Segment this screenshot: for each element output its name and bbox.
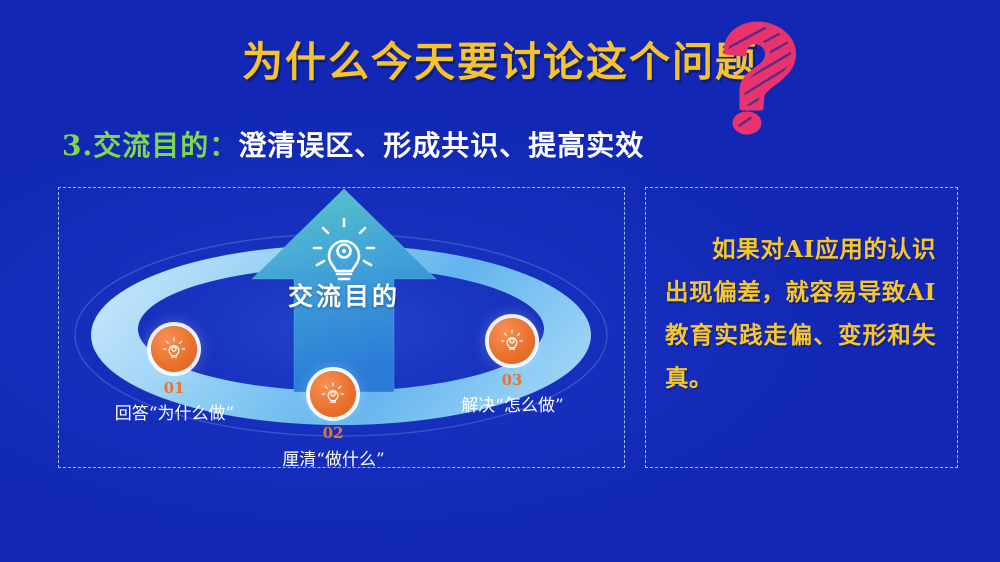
lightbulb-idea-icon <box>499 328 525 354</box>
question-mark-doodle-icon <box>706 16 806 136</box>
subtitle-number: 3.交流目的： <box>62 129 238 162</box>
page-title: 为什么今天要讨论这个问题 <box>0 28 1000 88</box>
goal-node-number-02: 02 <box>310 424 356 442</box>
goal-node-03[interactable] <box>489 318 535 364</box>
goal-node-label-02: 厘清“做什么” <box>224 445 443 470</box>
goal-node-number-03: 03 <box>489 371 535 389</box>
quote-text: 如果对AI应用的认识出现偏差，就容易导致AI教育实践走偏、变形和失真。 <box>645 187 958 468</box>
goal-node-label-01: 回答“为什么做” <box>62 399 287 424</box>
lightbulb-idea-icon <box>161 336 187 362</box>
goal-node-02[interactable] <box>310 371 356 417</box>
subtitle-text: 澄清误区、形成共识、提高实效 <box>238 129 644 162</box>
goal-node-number-01: 01 <box>151 379 197 397</box>
lightbulb-idea-icon <box>320 381 346 407</box>
slide-canvas: 为什么今天要讨论这个问题 <box>0 0 1000 562</box>
arrow-center-label: 交流目的 <box>246 277 442 313</box>
section-subtitle: 3.交流目的：澄清误区、形成共识、提高实效 <box>62 124 644 164</box>
goals-diagram: 交流目的 01 回答“为什么做” <box>58 187 625 468</box>
goal-node-label-03: 解决“怎么做” <box>403 391 622 416</box>
goal-node-01[interactable] <box>151 326 197 372</box>
